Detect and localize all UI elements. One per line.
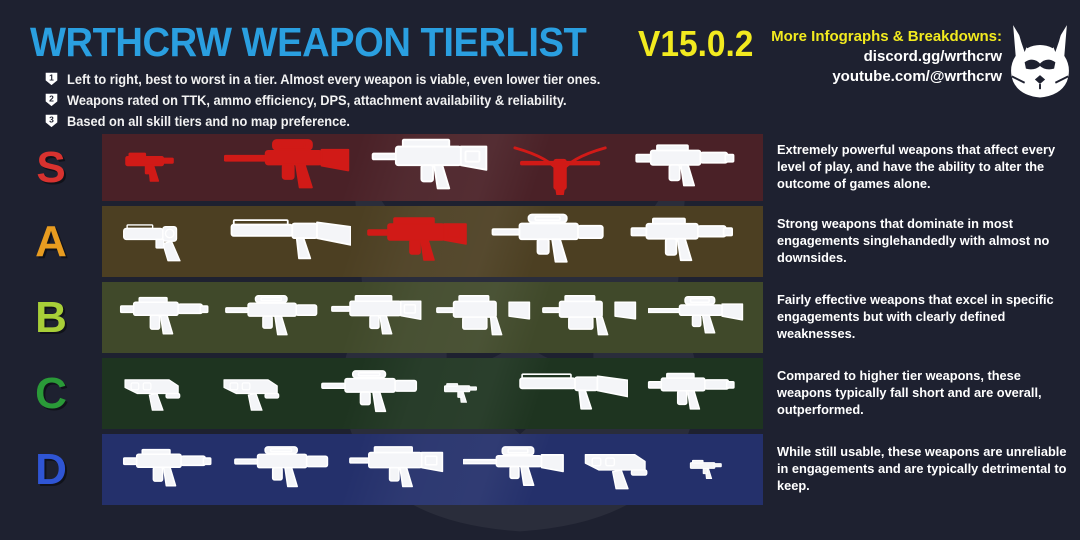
weapon-sniper-rifle-long[interactable] <box>224 134 356 201</box>
tier-row-s: S <box>0 134 1080 201</box>
tier-row-b: B <box>0 282 1080 353</box>
weapon-pistol-compact[interactable] <box>441 378 501 409</box>
note-badge-1-icon: 1 <box>44 71 59 87</box>
weapon-smg-stocked[interactable] <box>627 212 743 272</box>
tier-row-d: D <box>0 434 1080 505</box>
page-title-version: V15.0.2 <box>638 26 753 62</box>
notes-list: 1 Left to right, best to worst in a tier… <box>44 69 628 132</box>
note-text: Based on all skill tiers and no map pref… <box>67 114 350 129</box>
tier-row-a: A <box>0 206 1080 277</box>
note-badge-3-icon: 3 <box>44 113 59 129</box>
weapon-energy-rifle[interactable] <box>366 214 474 270</box>
tier-letter-a: A <box>0 206 102 277</box>
weapon-machine-pistol[interactable] <box>121 145 209 191</box>
weapon-smg-folding-stock[interactable] <box>645 368 743 419</box>
weapon-energy-launcher[interactable] <box>582 446 674 494</box>
weapon-heavy-machine-gun[interactable] <box>541 292 641 344</box>
weapon-sniper-rifle-bolt[interactable] <box>463 442 569 497</box>
note-badge-1-number: 1 <box>49 73 54 83</box>
discord-link[interactable]: discord.gg/wrthcrw <box>771 47 1002 67</box>
weapon-assault-rifle-scoped[interactable] <box>490 210 612 273</box>
note-badge-2-icon: 2 <box>44 92 59 108</box>
infographic-root: WRTHCRW WEAPON TIERLIST V15.0.2 1 Left t… <box>0 0 1080 540</box>
tier-description-b: Fairly effective weapons that excel in s… <box>763 282 1080 353</box>
weapon-assault-rifle-standard[interactable] <box>320 367 424 421</box>
tier-description-text: Extremely powerful weapons that affect e… <box>777 142 1072 193</box>
weapon-sidearm-pistol[interactable] <box>687 455 745 485</box>
cat-head-logo-icon <box>1008 22 1072 100</box>
tier-letter-s: S <box>0 134 102 201</box>
tier-description-text: Strong weapons that dominate in most eng… <box>777 216 1072 267</box>
weapon-scoped-rifle-light[interactable] <box>233 443 335 496</box>
weapon-carbine-rifle[interactable] <box>224 292 324 344</box>
tier-description-text: Compared to higher tier weapons, these w… <box>777 368 1072 419</box>
note-text: Left to right, best to worst in a tier. … <box>67 72 600 87</box>
tier-list: S <box>0 134 1080 510</box>
note-item: 3 Based on all skill tiers and no map pr… <box>44 111 628 131</box>
tier-letter-b: B <box>0 282 102 353</box>
weapon-smg-angled[interactable] <box>117 292 217 344</box>
weapon-smg-drum-mag[interactable] <box>120 444 220 496</box>
tier-description-text: While still usable, these weapons are un… <box>777 444 1072 495</box>
tier-description-c: Compared to higher tier weapons, these w… <box>763 358 1080 429</box>
header: WRTHCRW WEAPON TIERLIST V15.0.2 1 Left t… <box>0 0 1080 134</box>
note-item: 1 Left to right, best to worst in a tier… <box>44 69 628 89</box>
weapon-light-machine-gun[interactable] <box>435 292 535 344</box>
weapon-crossbow[interactable] <box>511 140 617 195</box>
note-text: Weapons rated on TTK, ammo efficiency, D… <box>67 93 567 108</box>
social-heading: More Infographs & Breakdowns: <box>771 28 1002 45</box>
tier-band-s <box>102 134 763 201</box>
weapon-lever-action-shotgun[interactable] <box>229 210 351 273</box>
note-item: 2 Weapons rated on TTK, ammo efficiency,… <box>44 90 628 110</box>
tier-band-d <box>102 434 763 505</box>
tier-description-text: Fairly effective weapons that excel in s… <box>777 292 1072 343</box>
tier-band-a <box>102 206 763 277</box>
weapon-energy-pistol-heavy[interactable] <box>122 372 204 415</box>
weapon-marksman-rifle[interactable] <box>648 292 748 344</box>
youtube-link[interactable]: youtube.com/@wrthcrw <box>771 67 1002 87</box>
tier-description-d: While still usable, these weapons are un… <box>763 434 1080 505</box>
tier-letter-d: D <box>0 434 102 505</box>
tier-letter-c: C <box>0 358 102 429</box>
weapon-battle-rifle[interactable] <box>348 443 450 496</box>
note-badge-3-number: 3 <box>49 115 54 125</box>
weapon-shotgun-bullpup[interactable] <box>330 292 428 343</box>
weapon-revolver-pistol[interactable] <box>122 218 214 266</box>
tier-description-a: Strong weapons that dominate in most eng… <box>763 206 1080 277</box>
tier-band-b <box>102 282 763 353</box>
weapon-assault-rifle-bullpup[interactable] <box>370 135 496 200</box>
weapon-smg-compact[interactable] <box>632 139 744 197</box>
page-title: WRTHCRW WEAPON TIERLIST V15.0.2 <box>30 22 762 63</box>
tier-description-s: Extremely powerful weapons that affect e… <box>763 134 1080 201</box>
weapon-shotgun-pump[interactable] <box>518 365 628 422</box>
social-links: More Infographs & Breakdowns: discord.gg… <box>771 28 1002 88</box>
weapon-machine-pistol-boxy[interactable] <box>221 372 303 415</box>
tier-band-c <box>102 358 763 429</box>
note-badge-2-number: 2 <box>49 94 54 104</box>
page-title-main: WRTHCRW WEAPON TIERLIST <box>30 22 586 63</box>
tier-row-c: C <box>0 358 1080 429</box>
